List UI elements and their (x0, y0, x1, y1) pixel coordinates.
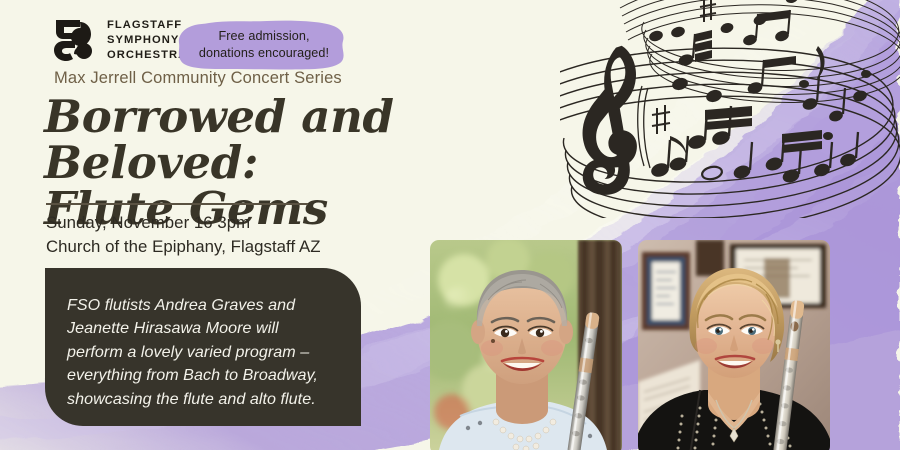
fso-logo: Flagstaff Symphony Orchestra (54, 18, 187, 62)
title-divider (46, 203, 308, 205)
event-date-time: Sunday, November 16 3pm (46, 211, 406, 235)
description-text: FSO flutists Andrea Graves and Jeanette … (67, 294, 335, 411)
badge-line-1: Free admission, (218, 28, 309, 45)
swirling-music-staff-with-notes (560, 0, 900, 218)
badge-text: Free admission, donations encouraged! (175, 20, 353, 70)
event-details: Sunday, November 16 3pm Church of the Ep… (46, 211, 406, 260)
fso-monogram-icon (54, 18, 98, 62)
free-admission-badge: Free admission, donations encouraged! (175, 20, 353, 70)
portrait-jeanette-hirasawa-moore (638, 240, 830, 450)
description-card: FSO flutists Andrea Graves and Jeanette … (45, 268, 361, 426)
concert-poster: Flagstaff Symphony Orchestra Free admiss… (0, 0, 900, 450)
concert-series-label: Max Jerrell Community Concert Series (54, 69, 342, 88)
badge-line-2: donations encouraged! (199, 45, 329, 62)
portrait-andrea-graves (430, 240, 622, 450)
event-venue: Church of the Epiphany, Flagstaff AZ (46, 235, 406, 259)
title-line-1: Borrowed and Beloved: (44, 90, 394, 189)
